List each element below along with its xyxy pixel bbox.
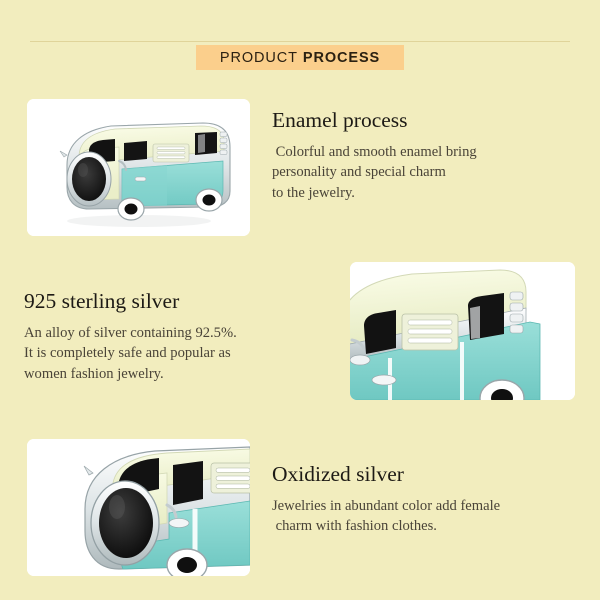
- section-text-sterling-silver: 925 sterling silver An alloy of silver c…: [24, 289, 334, 385]
- section-body-line: It is completely safe and popular as: [24, 343, 334, 364]
- page-title-bold: PROCESS: [303, 50, 380, 66]
- section-text-enamel-process: Enamel process Colorful and smooth ename…: [272, 108, 572, 204]
- page-header: PRODUCT PROCESS: [0, 22, 600, 62]
- section-body-line: personality and special charm: [272, 162, 572, 183]
- section-heading-sterling-silver: 925 sterling silver: [24, 289, 334, 314]
- camper-van-detail-view-illustration: [350, 262, 575, 400]
- header-divider-rule: [30, 41, 570, 42]
- camper-van-front-view-illustration: [27, 439, 250, 576]
- product-photo-card-sterling-silver: [350, 262, 575, 400]
- page-title-banner: PRODUCT PROCESS: [196, 45, 404, 70]
- section-body-line: An alloy of silver containing 92.5%.: [24, 323, 334, 344]
- section-body-line: charm with fashion clothes.: [272, 516, 582, 537]
- section-heading-enamel-process: Enamel process: [272, 108, 572, 133]
- page-title-light: PRODUCT: [220, 50, 298, 66]
- section-body-line: women fashion jewelry.: [24, 364, 334, 385]
- product-photo-card-enamel-process: [27, 99, 250, 236]
- product-photo-card-oxidized-silver: [27, 439, 250, 576]
- section-body-line: Colorful and smooth enamel bring: [272, 142, 572, 163]
- section-text-oxidized-silver: Oxidized silver Jewelries in abundant co…: [272, 462, 582, 537]
- section-heading-oxidized-silver: Oxidized silver: [272, 462, 582, 487]
- section-body-line: to the jewelry.: [272, 183, 572, 204]
- section-body-line: Jewelries in abundant color add female: [272, 496, 582, 517]
- camper-van-side-view-illustration: [27, 99, 250, 236]
